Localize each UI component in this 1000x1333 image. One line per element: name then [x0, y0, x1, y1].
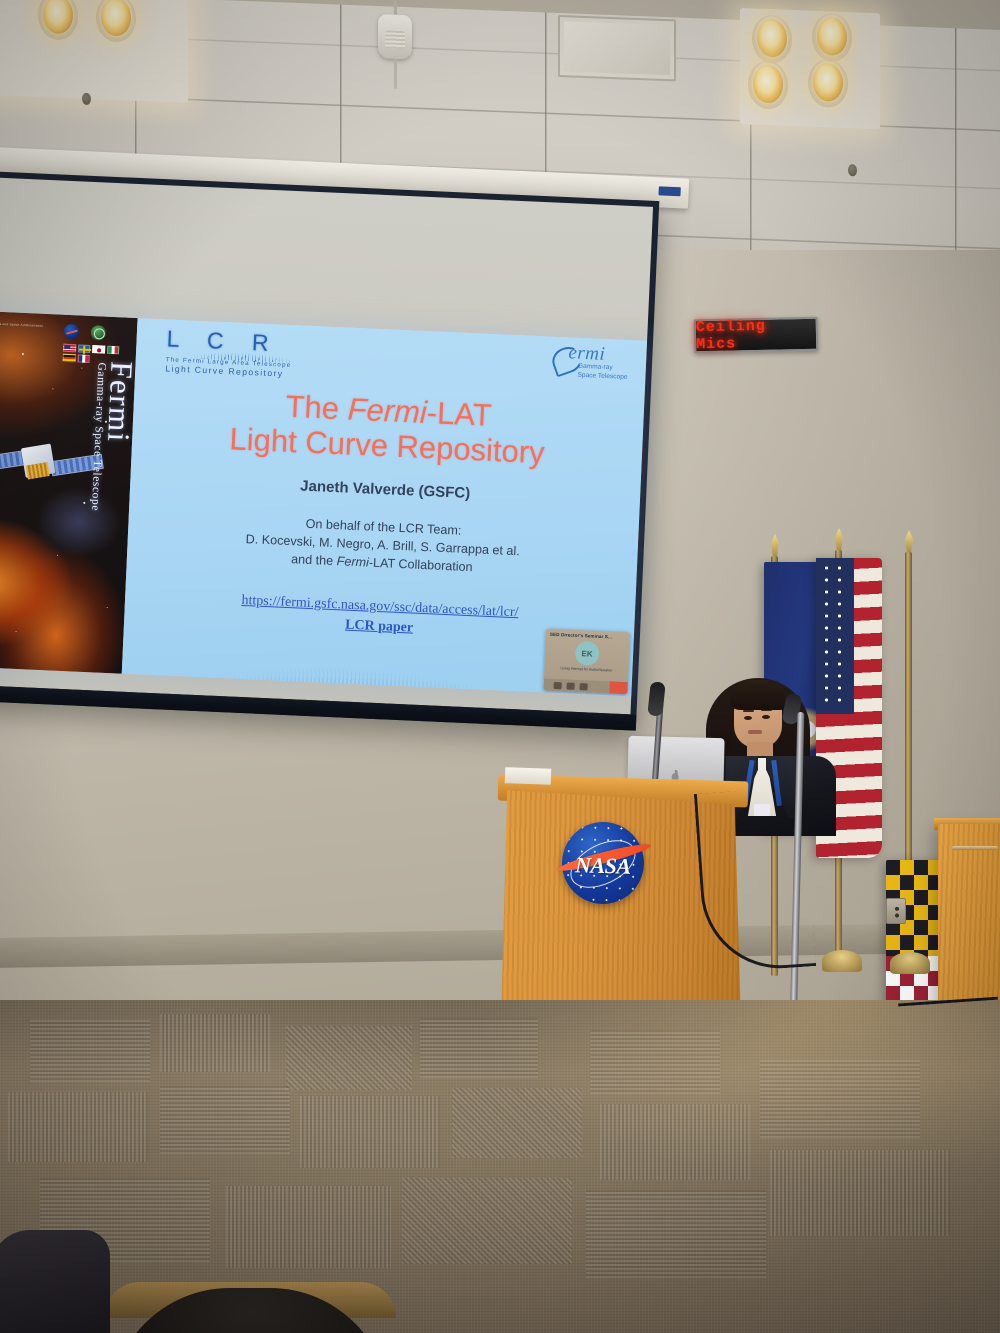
nasa-logo-icon [64, 324, 80, 340]
recessed-bulb [753, 64, 783, 103]
flag-stand-base [890, 952, 930, 974]
camera-icon[interactable] [579, 683, 587, 690]
flag-stand-base [822, 950, 862, 972]
fermi-tagline-2: Space Telescope [577, 372, 637, 384]
title-pre: The [285, 389, 349, 427]
hvac-vent [558, 15, 676, 82]
hair-fringe [730, 680, 788, 710]
cabinet-handle[interactable] [952, 846, 998, 850]
end-call-icon[interactable] [609, 681, 628, 694]
mouth [748, 730, 762, 734]
ceiling-sensor [378, 14, 412, 59]
led-sign-text: Ceiling Mics [696, 317, 817, 354]
zoom-avatar: EK [575, 641, 600, 666]
microphone-icon[interactable] [567, 682, 575, 689]
ceiling-anchor [848, 164, 857, 176]
recessed-bulb [813, 63, 843, 102]
wall-outlet [886, 898, 906, 924]
flag-france-icon [77, 354, 90, 363]
slide-title: The Fermi-LAT Light Curve Repository [132, 382, 645, 475]
recessed-bulb [817, 17, 847, 56]
lcr-logo: L C R The Fermi Large Area Telescope Lig… [165, 327, 319, 380]
title-emphasis: Fermi [347, 392, 428, 430]
light-fixture-right [740, 8, 880, 129]
slide-collaboration-block: On behalf of the LCR Team: D. Kocevski, … [127, 508, 639, 584]
nasa-wordmark: NASA [562, 852, 645, 880]
printed-notes [505, 767, 552, 785]
title-post: -LAT [426, 395, 492, 433]
fermi-logo: ermi Gamma-ray Space Telescope [551, 343, 639, 384]
flag-japan-icon [92, 345, 105, 354]
agency-logo-group [63, 323, 127, 365]
slide-left-panel: National Aeronautics and Space Administr… [0, 310, 138, 674]
flag-italy-icon [106, 346, 119, 355]
conference-room-scene: National Aeronautics and Space Administr… [0, 0, 1000, 1333]
flag-sweden-icon [78, 344, 91, 353]
zoom-meeting-overlay[interactable]: SED Director's Seminar S... EK Using Int… [543, 629, 630, 695]
doe-logo-icon [91, 325, 107, 341]
recessed-bulb [757, 19, 787, 58]
slide-author: Janeth Valverde (GSFC) [130, 470, 640, 510]
side-cabinet [938, 824, 1000, 1020]
flag-germany-icon [63, 354, 76, 363]
slide-main-panel: L C R The Fermi Large Area Telescope Lig… [122, 318, 647, 696]
projection-screen: National Aeronautics and Space Administr… [0, 170, 659, 731]
foreground-audience-member [0, 1230, 110, 1333]
light-fixture-left [0, 0, 188, 103]
video-icon[interactable] [554, 681, 562, 688]
ceiling-mics-led-sign: Ceiling Mics [694, 317, 819, 354]
projected-slide: National Aeronautics and Space Administr… [0, 310, 647, 696]
housing-brand-label [658, 186, 680, 196]
ceiling-anchor [82, 93, 91, 105]
flag-united-states-icon [63, 344, 76, 353]
zoom-audio-status: Using Internet for Audio/Speaker [544, 665, 628, 673]
